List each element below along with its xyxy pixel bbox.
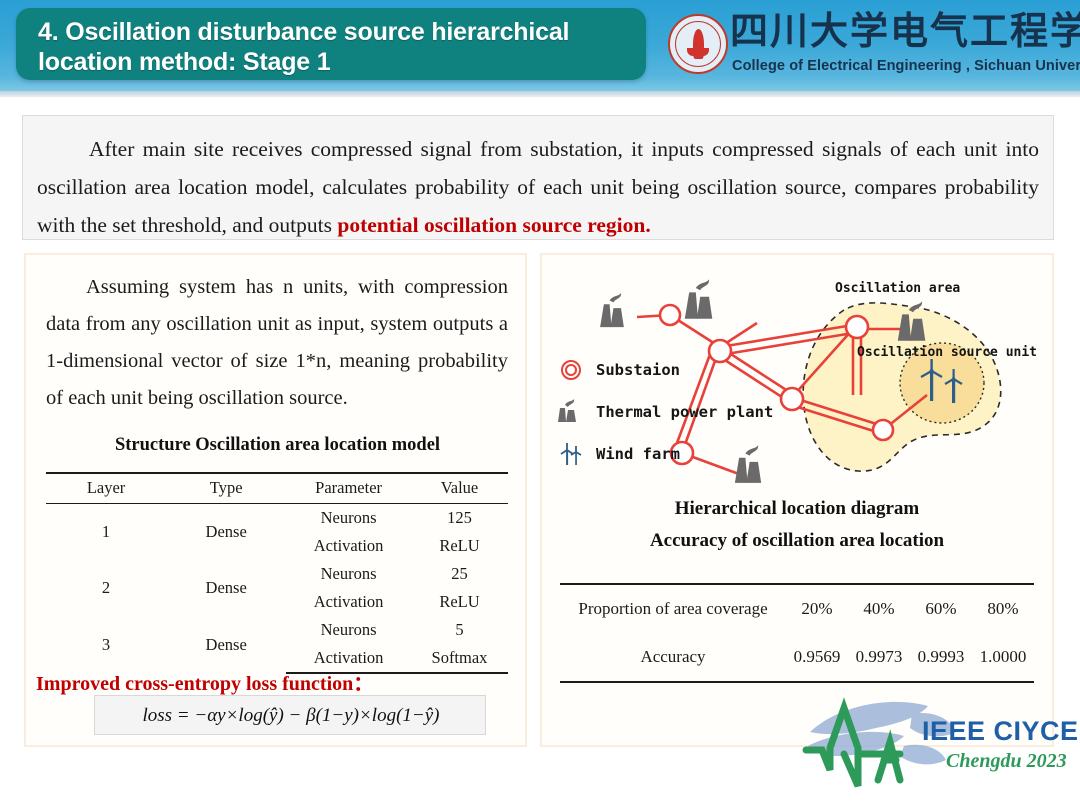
row-header-coverage: Proportion of area coverage — [560, 584, 786, 633]
left-panel-paragraph: Assuming system has n units, with compre… — [46, 269, 508, 417]
cell-value: ReLU — [411, 532, 508, 560]
legend-label-substation: Substaion — [596, 357, 680, 383]
cell-type: Dense — [166, 504, 286, 561]
ieee-ciycee-logo-icon: IEEE CIYCEE Chengdu 2023 — [800, 688, 1072, 800]
cell-layer: 1 — [46, 504, 166, 561]
cell-value: 25 — [411, 560, 508, 588]
legend-item-wind-farm: Wind farm — [554, 439, 784, 481]
table-row: Proportion of area coverage 20% 40% 60% … — [560, 584, 1034, 633]
structure-table-title: Structure Oscillation area location mode… — [26, 435, 529, 456]
substation-icon — [558, 357, 584, 383]
cell-accuracy: 1.0000 — [972, 633, 1034, 682]
loss-function-title: Improved cross-entropy loss function： — [36, 667, 516, 696]
col-header-type: Type — [166, 473, 286, 504]
table-row: Accuracy 0.9569 0.9973 0.9993 1.0000 — [560, 633, 1034, 682]
row-header-accuracy: Accuracy — [560, 633, 786, 682]
label-oscillation-area: Oscillation area — [835, 281, 960, 296]
cell-accuracy: 0.9569 — [786, 633, 848, 682]
table-row: 1 Dense Neurons 125 — [46, 504, 508, 533]
accuracy-table-caption: Accuracy of oscillation area location — [542, 530, 1052, 552]
cell-layer: 2 — [46, 560, 166, 616]
diagram-legend: Substaion Thermal power plant — [554, 355, 784, 481]
intro-paragraph: After main site receives compressed sign… — [37, 130, 1039, 244]
cell-parameter: Activation — [286, 532, 411, 560]
cell-value: 5 — [411, 616, 508, 644]
thermal-power-plant-icon — [558, 399, 584, 425]
col-header-layer: Layer — [46, 473, 166, 504]
cell-accuracy: 0.9973 — [848, 633, 910, 682]
cell-coverage: 80% — [972, 584, 1034, 633]
cell-layer: 3 — [46, 616, 166, 673]
page-title: 4. Oscillation disturbance source hierar… — [38, 17, 633, 77]
university-name-en: College of Electrical Engineering , Sich… — [732, 58, 1072, 74]
legend-label-wind-farm: Wind farm — [596, 441, 680, 467]
legend-item-substation: Substaion — [554, 355, 784, 397]
wind-farm-icon — [558, 441, 584, 467]
legend-item-thermal-power-plant: Thermal power plant — [554, 397, 784, 439]
cell-type: Dense — [166, 616, 286, 673]
col-header-value: Value — [411, 473, 508, 504]
conference-place: Chengdu 2023 — [946, 750, 1067, 773]
university-logo: 四川大学电气工程学院 College of Electrical Enginee… — [668, 6, 1073, 84]
cell-value: ReLU — [411, 588, 508, 616]
cell-type: Dense — [166, 560, 286, 616]
slide-header-band: 4. Oscillation disturbance source hierar… — [0, 0, 1080, 97]
loss-function-box: loss = −αy×log(ŷ) − β(1−y)×log(1−ŷ) — [94, 695, 486, 735]
structure-table: Layer Type Parameter Value 1 Dense Neuro… — [46, 472, 508, 674]
cell-parameter: Neurons — [286, 616, 411, 644]
university-name-cn: 四川大学电气工程学院 — [730, 8, 1070, 56]
cell-value: 125 — [411, 504, 508, 533]
intro-highlight: potential oscillation source region. — [337, 213, 650, 237]
cell-parameter: Neurons — [286, 560, 411, 588]
cell-coverage: 20% — [786, 584, 848, 633]
table-header-row: Layer Type Parameter Value — [46, 473, 508, 504]
loss-function-equation: loss = −αy×log(ŷ) − β(1−y)×log(1−ŷ) — [95, 696, 487, 736]
label-oscillation-source-unit: Oscillation source unit — [857, 345, 1037, 360]
intro-textbox: After main site receives compressed sign… — [22, 115, 1054, 240]
conference-name: IEEE CIYCEE — [922, 716, 1080, 747]
accuracy-table: Proportion of area coverage 20% 40% 60% … — [560, 583, 1034, 683]
col-header-parameter: Parameter — [286, 473, 411, 504]
cell-coverage: 40% — [848, 584, 910, 633]
cell-parameter: Neurons — [286, 504, 411, 533]
cell-parameter: Activation — [286, 588, 411, 616]
cell-coverage: 60% — [910, 584, 972, 633]
right-panel: Oscillation area Oscillation source unit… — [540, 253, 1054, 747]
diagram-caption: Hierarchical location diagram — [542, 498, 1052, 520]
sichuan-university-seal-icon — [668, 14, 728, 74]
slide-title-plate: 4. Oscillation disturbance source hierar… — [16, 8, 646, 80]
cell-accuracy: 0.9993 — [910, 633, 972, 682]
left-panel: Assuming system has n units, with compre… — [24, 253, 527, 747]
table-row: 2 Dense Neurons 25 — [46, 560, 508, 588]
legend-label-thermal-power-plant: Thermal power plant — [596, 399, 773, 425]
table-row: 3 Dense Neurons 5 — [46, 616, 508, 644]
